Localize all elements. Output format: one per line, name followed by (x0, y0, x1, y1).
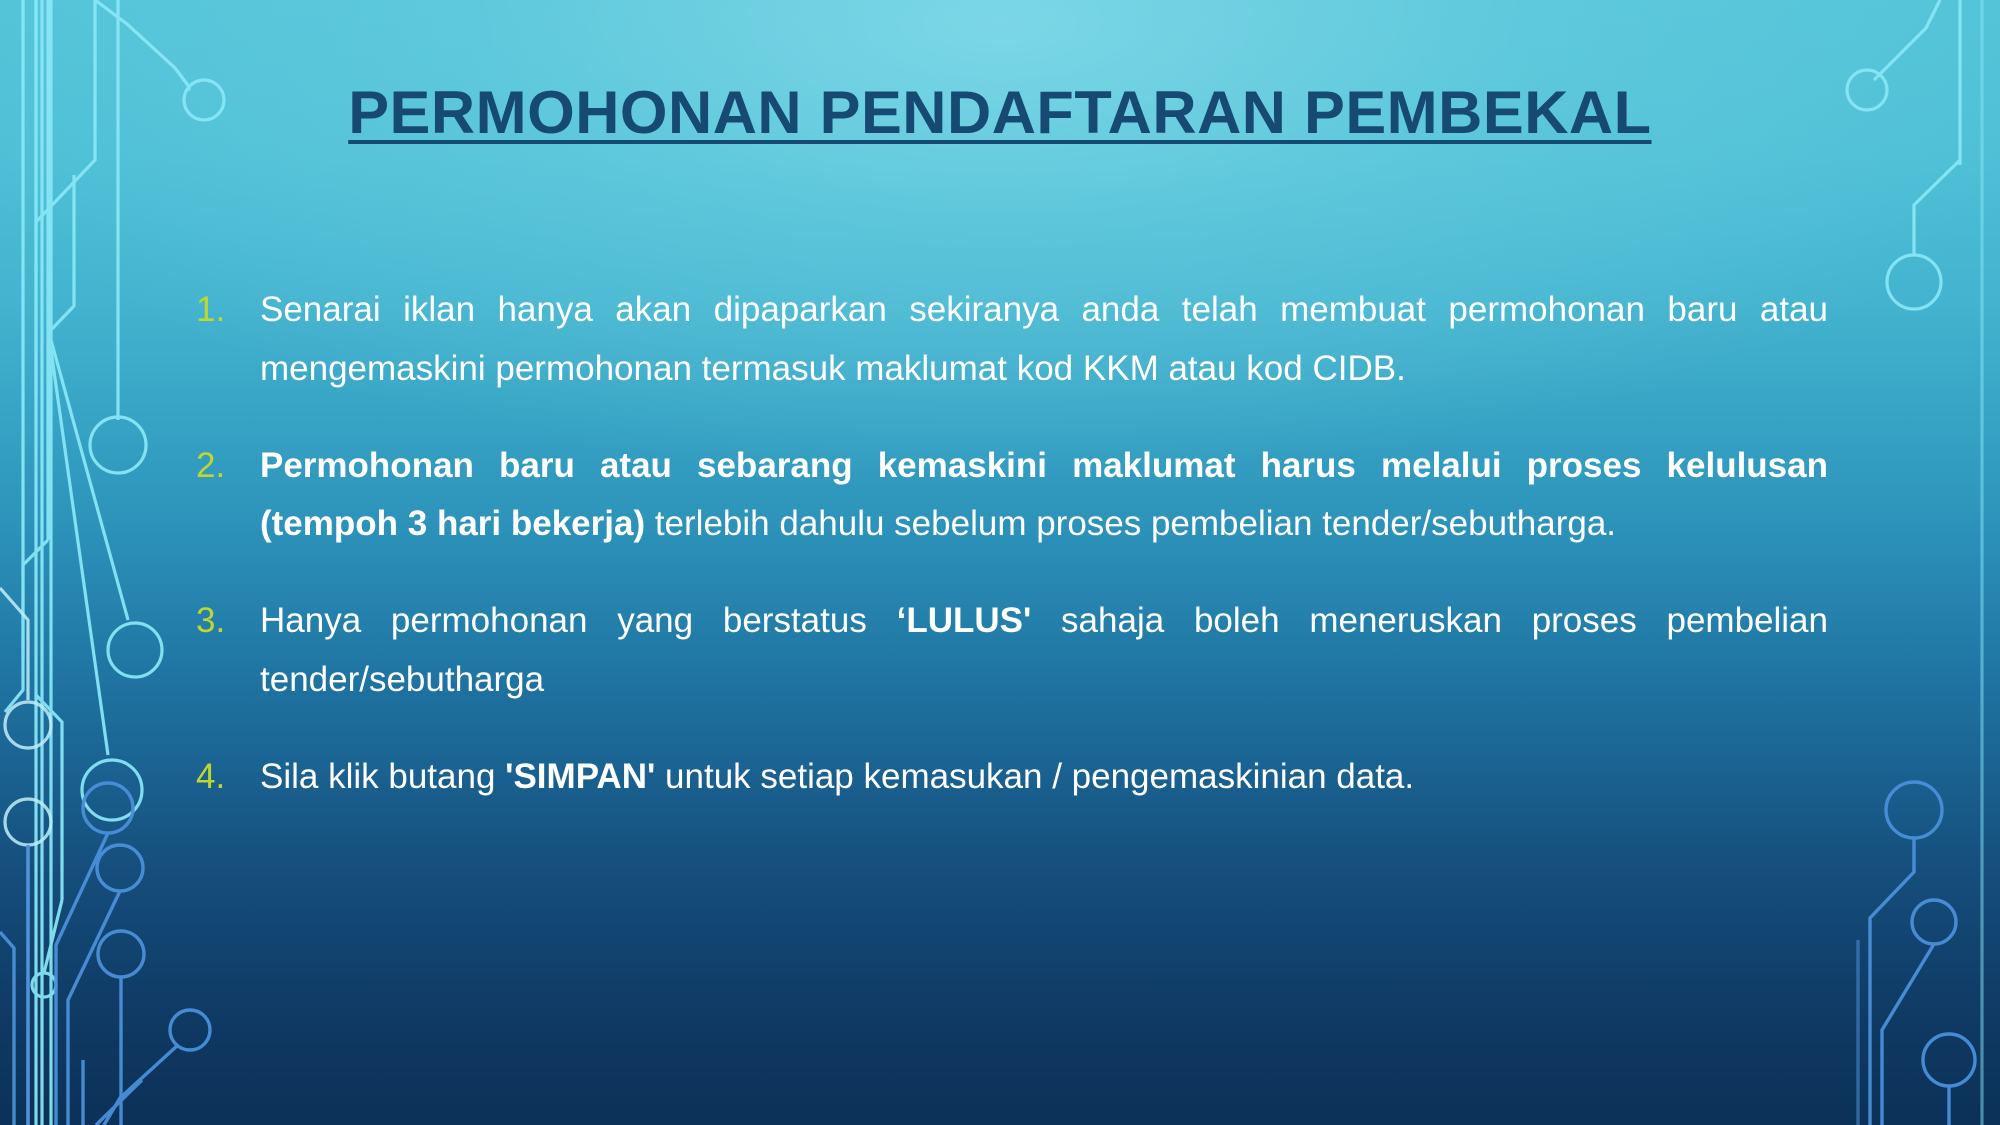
circuit-trace-graphic-right-icon (1830, 0, 2000, 1125)
page-title: PERMOHONAN PENDAFTARAN PEMBEKAL (348, 78, 1651, 147)
list-item-text: Senarai iklan hanya akan dipaparkan seki… (260, 281, 1828, 399)
list-item-number: 3. (196, 592, 260, 651)
list-item-segment: Hanya permohonan yang berstatus (260, 601, 897, 640)
list-item-segment-bold: 'SIMPAN' (505, 757, 655, 796)
list-item-number: 2. (196, 437, 260, 496)
list-item-segment: Sila klik butang (260, 757, 505, 796)
list-item-segment: untuk setiap kemasukan / pengemaskinian … (655, 757, 1414, 796)
list-item-segment: terlebih dahulu sebelum proses pembelian… (645, 504, 1616, 543)
numbered-list: 1. Senarai iklan hanya akan dipaparkan s… (196, 281, 1828, 807)
title-container: PERMOHONAN PENDAFTARAN PEMBEKAL (0, 78, 2000, 147)
list-item-number: 4. (196, 748, 260, 807)
list-item-text: Sila klik butang 'SIMPAN' untuk setiap k… (260, 748, 1828, 807)
list-item: 1. Senarai iklan hanya akan dipaparkan s… (196, 281, 1828, 399)
list-item: 4. Sila klik butang 'SIMPAN' untuk setia… (196, 748, 1828, 807)
list-item: 2. Permohonan baru atau sebarang kemaski… (196, 437, 1828, 555)
list-item: 3. Hanya permohonan yang berstatus ‘LULU… (196, 592, 1828, 710)
presentation-slide: PERMOHONAN PENDAFTARAN PEMBEKAL 1. Senar… (0, 0, 2000, 1125)
list-item-text: Hanya permohonan yang berstatus ‘LULUS' … (260, 592, 1828, 710)
list-item-segment: Senarai iklan hanya akan dipaparkan seki… (260, 290, 1828, 388)
list-item-text: Permohonan baru atau sebarang kemaskini … (260, 437, 1828, 555)
list-item-number: 1. (196, 281, 260, 340)
list-item-segment-bold: ‘LULUS' (897, 601, 1032, 640)
